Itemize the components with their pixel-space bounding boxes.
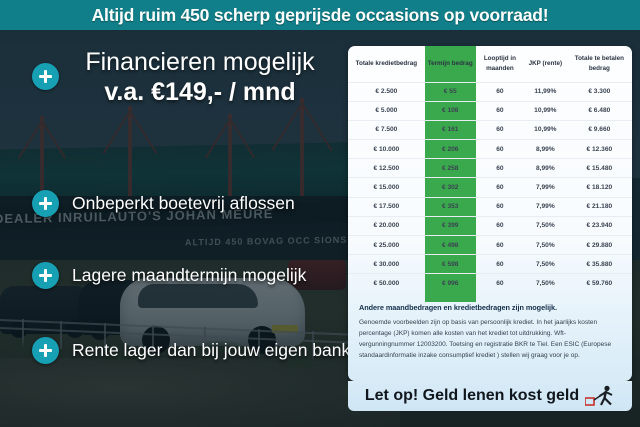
table-cell: 7,50% xyxy=(524,274,567,293)
hero-headline: Financieren mogelijk v.a. €149,- / mnd xyxy=(55,48,345,109)
table-cell: € 20.000 xyxy=(348,216,425,235)
table-cell: 7,99% xyxy=(524,178,567,197)
table-cell: 8,99% xyxy=(524,140,567,159)
table-cell: 7,50% xyxy=(524,236,567,255)
table-cell: 60 xyxy=(476,101,524,120)
table-row: € 17.500€ 353607,99%€ 21.180 xyxy=(348,197,632,216)
table-cell: € 2.500 xyxy=(348,82,425,101)
bullet-label-1: Onbeperkt boetevrij aflossen xyxy=(72,193,295,214)
table-cell-termijn-bedrag: € 108 xyxy=(425,101,476,120)
legal-warning-text: Let op! Geld lenen kost geld xyxy=(365,387,579,405)
table-row: € 20.000€ 399607,50%€ 23.940 xyxy=(348,216,632,235)
table-cell: € 59.760 xyxy=(567,274,632,293)
promo-left-column: Financieren mogelijk v.a. €149,- / mnd O… xyxy=(0,30,348,427)
table-row: € 7.500€ 1616010,99%€ 9.660 xyxy=(348,120,632,139)
table-cell: € 15.000 xyxy=(348,178,425,197)
table-cell: 7,50% xyxy=(524,216,567,235)
rates-table-body: € 2.500€ 556011,99%€ 3.300€ 5.000€ 10860… xyxy=(348,82,632,293)
bullet-label-2: Lagere maandtermijn mogelijk xyxy=(72,265,306,286)
table-cell: 8,99% xyxy=(524,159,567,178)
table-cell-termijn-bedrag: € 55 xyxy=(425,82,476,101)
table-cell: € 10.000 xyxy=(348,140,425,159)
table-row: € 15.000€ 302607,99%€ 18.120 xyxy=(348,178,632,197)
table-row: € 5.000€ 1086010,99%€ 6.480 xyxy=(348,101,632,120)
table-cell-termijn-bedrag: € 353 xyxy=(425,197,476,216)
table-cell: € 35.880 xyxy=(567,255,632,274)
table-cell: 60 xyxy=(476,274,524,293)
table-cell-termijn-bedrag: € 161 xyxy=(425,120,476,139)
table-cell: € 21.180 xyxy=(567,197,632,216)
notes-heading: Andere maandbedragen en kredietbedragen … xyxy=(359,303,621,312)
hero-headline-line2: v.a. €149,- / mnd xyxy=(55,76,345,109)
table-row: € 50.000€ 996607,50%€ 59.760 xyxy=(348,274,632,293)
table-cell: € 6.480 xyxy=(567,101,632,120)
table-cell-termijn-bedrag: € 258 xyxy=(425,159,476,178)
table-cell: € 25.000 xyxy=(348,236,425,255)
rates-card: Totale kredietbedrag Termijn bedrag Loop… xyxy=(348,46,632,381)
bullet-item-1: Onbeperkt boetevrij aflossen xyxy=(32,190,295,217)
table-cell: 10,99% xyxy=(524,120,567,139)
table-header-cell: Looptijd in maanden xyxy=(476,46,524,82)
table-cell: € 5.000 xyxy=(348,101,425,120)
rates-table: Totale kredietbedrag Termijn bedrag Loop… xyxy=(348,46,632,293)
table-cell: € 12.500 xyxy=(348,159,425,178)
plus-circle-icon xyxy=(32,337,59,364)
table-cell: 60 xyxy=(476,120,524,139)
table-cell: € 18.120 xyxy=(567,178,632,197)
table-cell: 7,50% xyxy=(524,255,567,274)
top-banner: Altijd ruim 450 scherp geprijsde occasio… xyxy=(0,0,640,30)
table-header-cell-highlight: Termijn bedrag xyxy=(425,46,476,82)
notes-block: Andere maandbedragen en kredietbedragen … xyxy=(348,293,632,362)
table-cell: 60 xyxy=(476,159,524,178)
table-cell: 60 xyxy=(476,255,524,274)
plus-circle-icon xyxy=(32,262,59,289)
table-cell: € 23.940 xyxy=(567,216,632,235)
table-header-cell: Totale kredietbedrag xyxy=(348,46,425,82)
table-cell: 60 xyxy=(476,178,524,197)
table-cell: € 9.660 xyxy=(567,120,632,139)
table-cell: € 7.500 xyxy=(348,120,425,139)
table-row: € 12.500€ 258608,99%€ 15.480 xyxy=(348,159,632,178)
table-header-row: Totale kredietbedrag Termijn bedrag Loop… xyxy=(348,46,632,82)
table-cell: € 12.360 xyxy=(567,140,632,159)
table-header-cell: Totale te betalen bedrag xyxy=(567,46,632,82)
bullet-item-3: Rente lager dan bij jouw eigen bank xyxy=(32,337,350,364)
table-row: € 25.000€ 498607,50%€ 29.880 xyxy=(348,236,632,255)
table-cell: 60 xyxy=(476,216,524,235)
table-cell-termijn-bedrag: € 996 xyxy=(425,274,476,293)
table-cell: € 3.300 xyxy=(567,82,632,101)
table-cell: € 30.000 xyxy=(348,255,425,274)
table-cell: € 50.000 xyxy=(348,274,425,293)
table-cell-termijn-bedrag: € 498 xyxy=(425,236,476,255)
table-cell: € 17.500 xyxy=(348,197,425,216)
table-cell: 60 xyxy=(476,236,524,255)
table-cell: € 29.880 xyxy=(567,236,632,255)
table-cell: 60 xyxy=(476,140,524,159)
table-cell-termijn-bedrag: € 206 xyxy=(425,140,476,159)
table-cell-termijn-bedrag: € 399 xyxy=(425,216,476,235)
hero-headline-line1: Financieren mogelijk xyxy=(55,48,345,76)
promo-banner-canvas: DEALER INRUILAUTO'S JOHAN MEURE ALTIJD 4… xyxy=(0,0,640,427)
table-cell: 7,99% xyxy=(524,197,567,216)
table-cell-termijn-bedrag: € 302 xyxy=(425,178,476,197)
table-cell-termijn-bedrag: € 598 xyxy=(425,255,476,274)
person-pulling-cart-icon xyxy=(585,385,615,407)
notes-body: Genoemde voorbeelden zijn op basis van p… xyxy=(359,317,621,362)
table-cell: 11,99% xyxy=(524,82,567,101)
bullet-label-3: Rente lager dan bij jouw eigen bank xyxy=(72,340,350,361)
table-row: € 30.000€ 598607,50%€ 35.880 xyxy=(348,255,632,274)
legal-warning-bar: Let op! Geld lenen kost geld xyxy=(348,381,632,411)
table-cell: 10,99% xyxy=(524,101,567,120)
table-header-cell: JKP (rente) xyxy=(524,46,567,82)
table-cell: 60 xyxy=(476,82,524,101)
bullet-item-2: Lagere maandtermijn mogelijk xyxy=(32,262,306,289)
plus-circle-icon xyxy=(32,190,59,217)
table-row: € 10.000€ 206608,99%€ 12.360 xyxy=(348,140,632,159)
table-cell: 60 xyxy=(476,197,524,216)
table-row: € 2.500€ 556011,99%€ 3.300 xyxy=(348,82,632,101)
top-banner-text: Altijd ruim 450 scherp geprijsde occasio… xyxy=(92,5,549,26)
table-cell: € 15.480 xyxy=(567,159,632,178)
